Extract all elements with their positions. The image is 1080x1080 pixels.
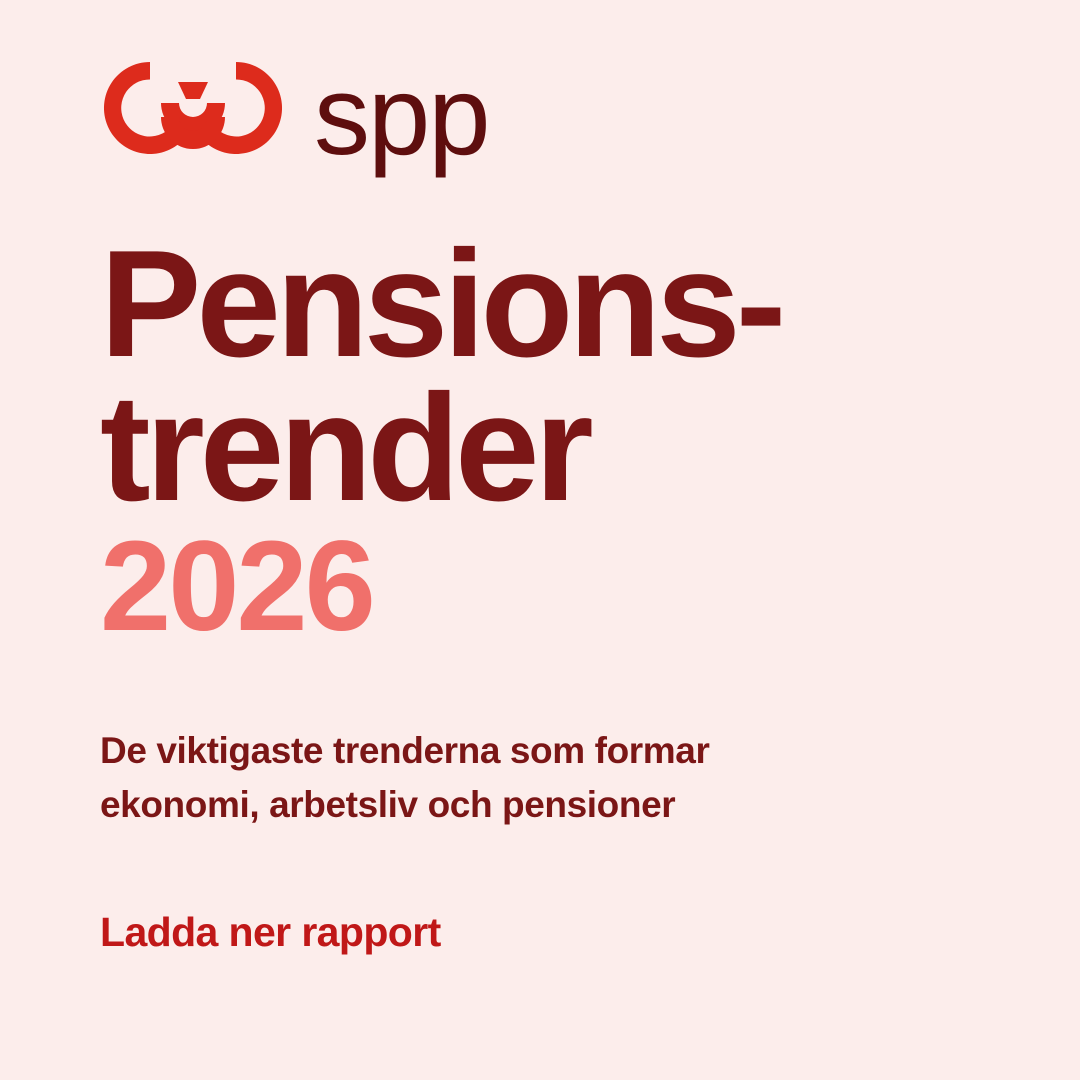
spp-interlocking-rings-logo-icon	[100, 58, 286, 162]
headline-line-1: Pensions-	[100, 232, 1000, 376]
headline-line-2: trender	[100, 376, 1000, 520]
subtitle: De viktigaste trenderna som formar ekono…	[100, 724, 860, 831]
headline-year: 2026	[100, 521, 1000, 653]
download-report-link[interactable]: Ladda ner rapport	[100, 908, 441, 957]
brand-lockup[interactable]: spp	[100, 55, 489, 165]
page-title: Pensions- trender 2026	[100, 232, 1000, 653]
brand-wordmark: spp	[314, 70, 489, 162]
subtitle-line-1: De viktigaste trenderna som formar	[100, 724, 860, 778]
promo-card: spp Pensions- trender 2026 De viktigaste…	[0, 0, 1080, 1080]
subtitle-line-2: ekonomi, arbetsliv och pensioner	[100, 778, 860, 832]
